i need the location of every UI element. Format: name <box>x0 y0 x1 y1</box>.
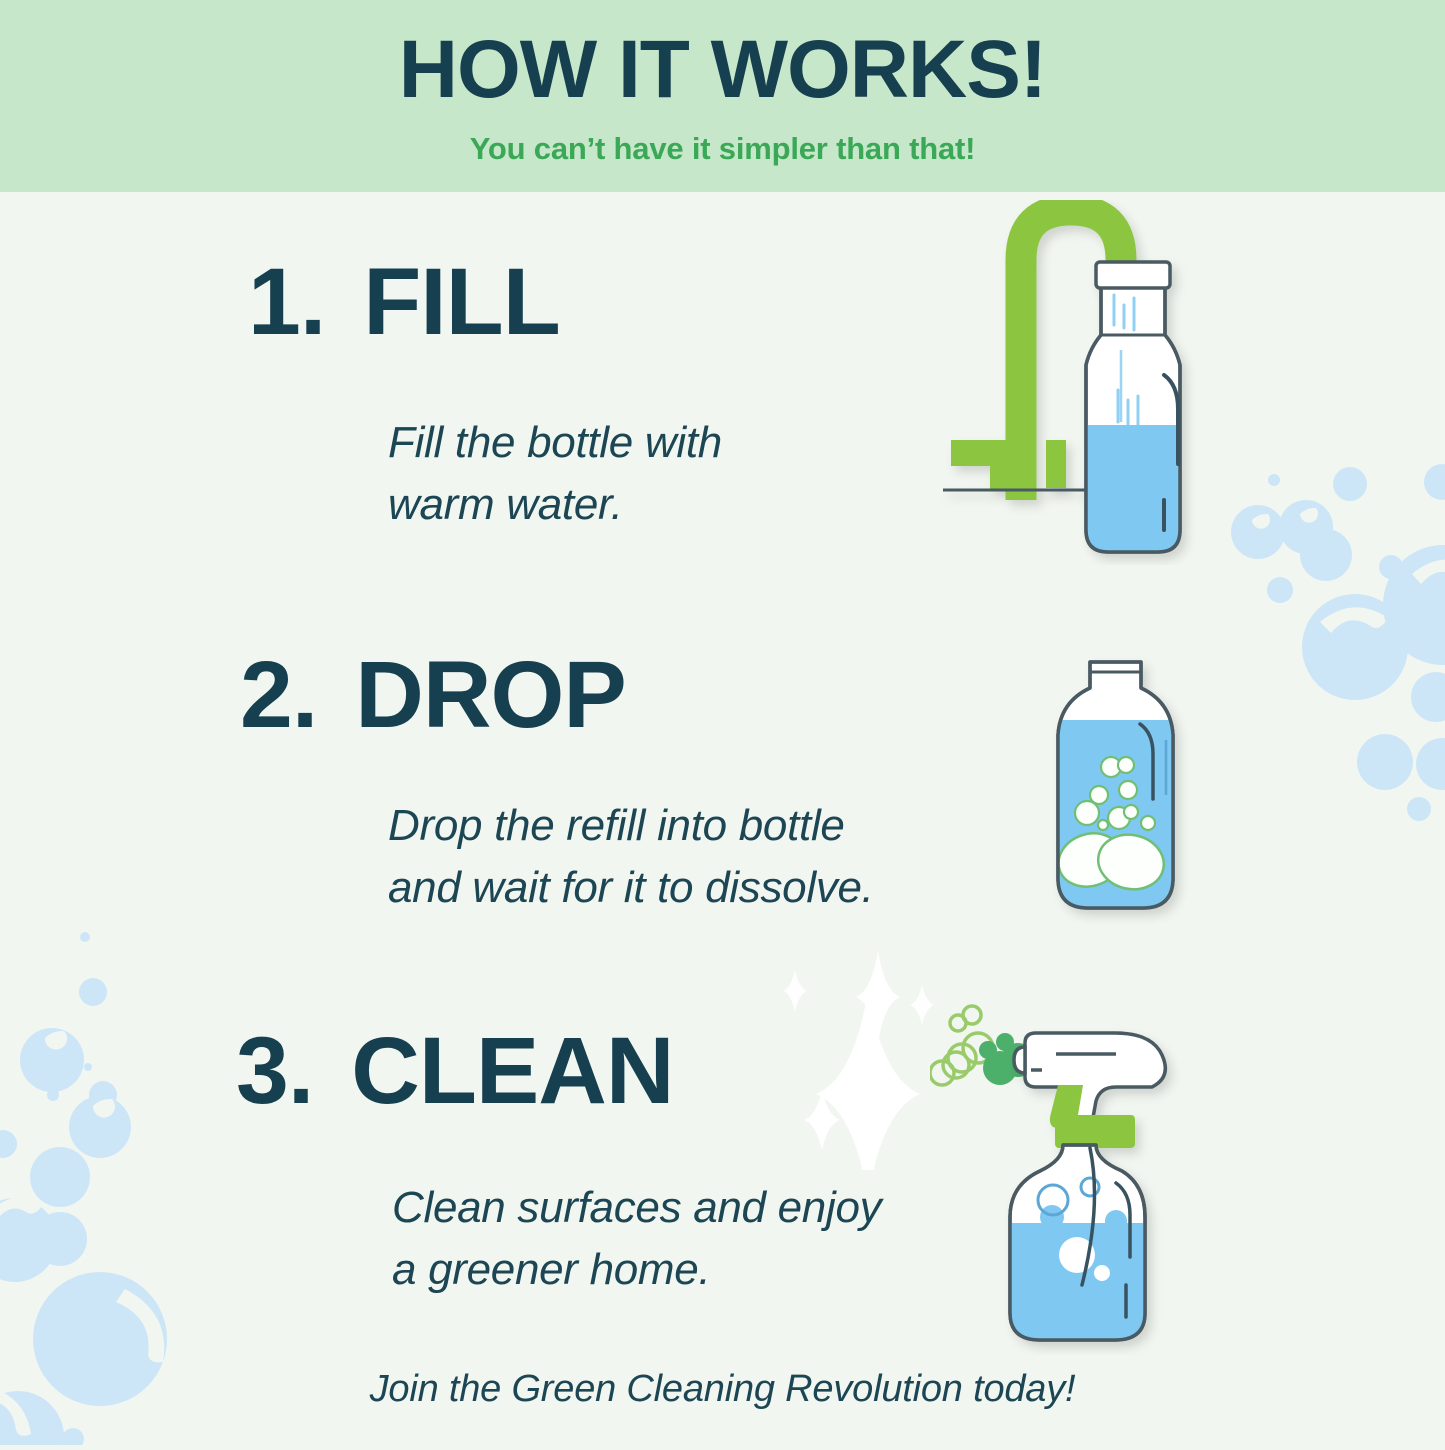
step-description: Clean surfaces and enjoy a greener home. <box>392 1177 881 1302</box>
faucet-icon <box>918 200 1218 570</box>
step-heading: 2.DROP <box>240 648 874 743</box>
step-heading: 1.FILL <box>248 255 722 350</box>
step-item-drop: 2.DROP Drop the refill into bottle and w… <box>240 648 874 920</box>
step-number: 2. <box>240 642 317 748</box>
step-title: DROP <box>355 642 625 748</box>
step-number: 1. <box>248 249 325 355</box>
footer-cta-text: Join the Green Cleaning Revolution today… <box>370 1368 1076 1410</box>
header-banner: HOW IT WORKS! You can’t have it simpler … <box>0 0 1445 192</box>
step-heading: 3.CLEAN <box>236 1024 881 1119</box>
bottle-icon <box>1018 640 1213 935</box>
page-title: HOW IT WORKS! <box>399 29 1046 111</box>
footer: Join the Green Cleaning Revolution today… <box>0 1368 1445 1411</box>
spray-bottle-icon <box>930 955 1220 1360</box>
step-title: CLEAN <box>351 1018 673 1124</box>
step-title: FILL <box>363 249 559 355</box>
step-item-clean: 3.CLEAN Clean surfaces and enjoy a green… <box>236 1024 881 1302</box>
step-number: 3. <box>236 1018 313 1124</box>
step-item-fill: 1.FILL Fill the bottle with warm water. <box>248 255 722 537</box>
step-description: Drop the refill into bottle and wait for… <box>388 795 874 920</box>
step-description: Fill the bottle with warm water. <box>388 412 722 537</box>
page-subtitle: You can’t have it simpler than that! <box>470 131 976 167</box>
